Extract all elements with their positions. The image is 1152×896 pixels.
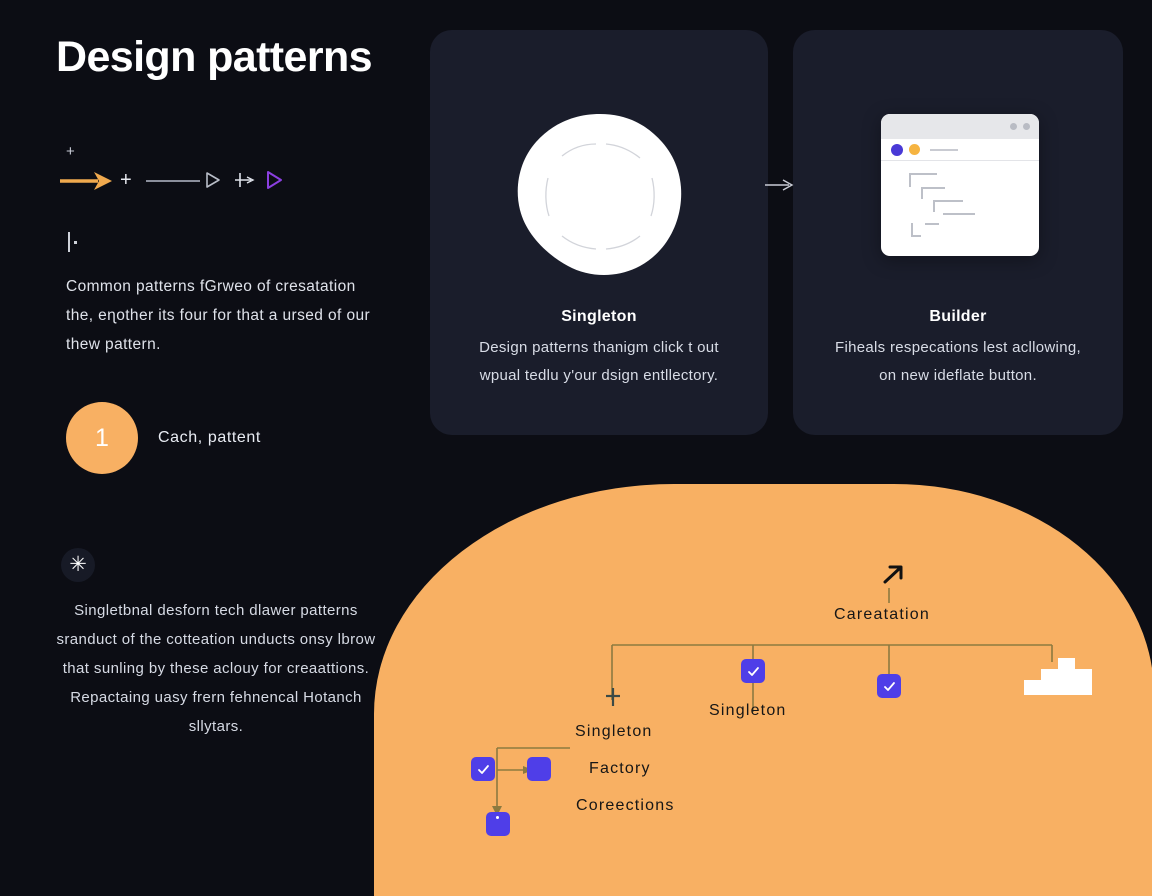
toolbar-blue-dot-icon: [891, 144, 903, 156]
card-body: Fiheals respecations lest acllowing, on …: [827, 334, 1089, 390]
node-square-dotted[interactable]: [486, 812, 510, 836]
node-stair-blocks[interactable]: [1024, 658, 1084, 694]
arrow-right-icon: [765, 176, 795, 194]
diagram-label-singleton-mid: Singleton: [709, 702, 787, 720]
node-check-left[interactable]: [471, 757, 495, 781]
toolbar-amber-dot-icon: [909, 144, 920, 155]
arrow-up-right-icon: [880, 562, 906, 593]
browser-window-illustration: [881, 114, 1039, 256]
diagram-label-singleton-left: Singleton: [575, 723, 653, 741]
text-caret-icon: [68, 232, 70, 252]
glyph-row: +: [56, 168, 396, 194]
step-row: 1 Cach, pattent: [66, 402, 261, 474]
diagram-label-factory: Factory: [589, 760, 651, 778]
asterisk-glyph: ✳: [69, 555, 87, 575]
browser-chrome-bar: [881, 114, 1039, 139]
card-singleton[interactable]: Singleton Design patterns thanigm click …: [430, 30, 768, 435]
caret-dot-icon: [74, 241, 77, 244]
triangle-outline-grey-icon: [204, 170, 222, 195]
plus-icon: +: [120, 169, 132, 191]
diagram-label-careatation: Careatation: [834, 606, 930, 624]
page-root: Design patterns + +: [0, 0, 1152, 896]
polygon-blob-illustration: [514, 112, 686, 277]
glyph-strip: + +: [56, 140, 396, 202]
intro-paragraph: Common patterns fGrweo of cresatation th…: [66, 272, 386, 359]
plus-small-icon: +: [66, 144, 75, 159]
step-label: Cach, pattent: [158, 429, 261, 447]
window-dot-icon: [1023, 123, 1030, 130]
browser-toolbar: [881, 139, 1039, 161]
triangle-outline-purple-icon: [264, 170, 284, 195]
page-title: Design patterns: [56, 33, 372, 82]
arrow-right-orange-icon: [58, 169, 116, 198]
line-divider-icon: [146, 180, 200, 182]
plus-arrow-icon: [234, 170, 256, 195]
node-square-left[interactable]: [527, 757, 551, 781]
browser-canvas: [881, 161, 1039, 256]
diagram-label-coreections: Coreections: [576, 797, 675, 815]
card-builder[interactable]: Builder Fiheals respecations lest acllow…: [793, 30, 1123, 435]
step-number-badge: 1: [66, 402, 138, 474]
note-paragraph: Singletbnal desforn tech dlawer patterns…: [56, 596, 376, 741]
node-check-mid[interactable]: [741, 659, 765, 683]
card-title: Builder: [793, 308, 1123, 326]
toolbar-line-icon: [930, 149, 958, 151]
card-body: Design patterns thanigm click t out wpua…: [464, 334, 734, 390]
card-title: Singleton: [430, 308, 768, 326]
window-dot-icon: [1010, 123, 1017, 130]
node-check-right[interactable]: [877, 674, 901, 698]
asterisk-icon: ✳: [61, 548, 95, 582]
